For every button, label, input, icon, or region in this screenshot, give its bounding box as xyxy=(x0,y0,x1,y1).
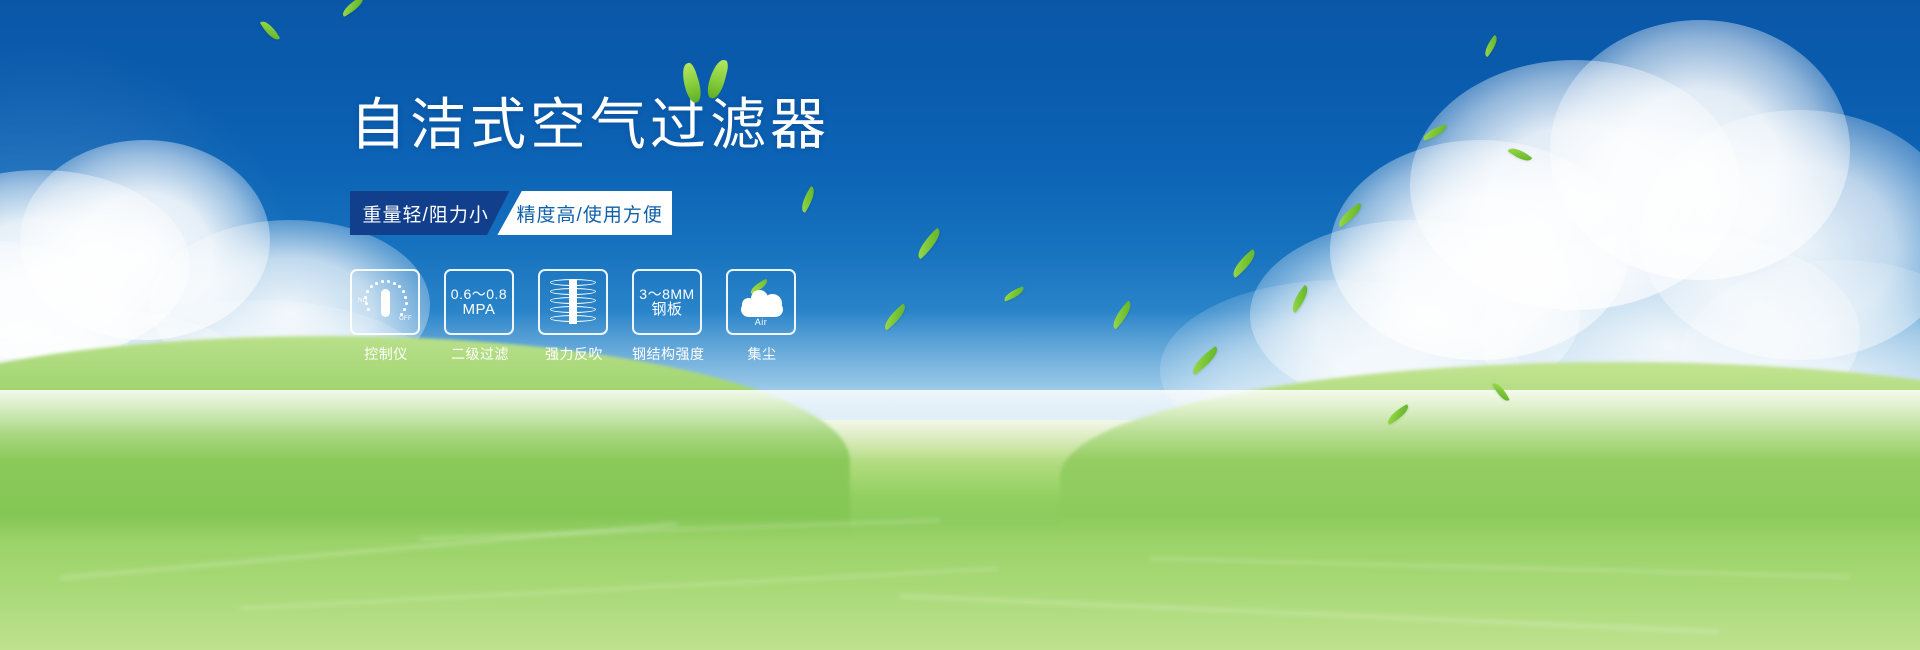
steel-icon-material: 钢板 xyxy=(651,302,682,318)
feature-list: NO OFF 控制仪 0.6～0.8 MPA 二级过滤 xyxy=(350,269,990,364)
feature-label: 钢结构强度 xyxy=(632,344,704,364)
banner-content: 自洁式空气过滤器 重量轻/阻力小 精度高/使用方便 xyxy=(350,95,990,364)
steel-icon-thickness: 3～8MM xyxy=(639,286,694,302)
pressure-icon-unit: MPA xyxy=(463,302,496,318)
title-block: 自洁式空气过滤器 xyxy=(350,95,990,167)
subtitle-tab-2[interactable]: 精度高/使用方便 xyxy=(497,191,672,235)
feature-item-dust-collection[interactable]: Air 集尘 xyxy=(726,269,798,364)
gauge-label-off: OFF xyxy=(399,316,412,322)
air-badge-text: Air xyxy=(736,317,786,327)
coil-icon xyxy=(550,278,596,326)
feature-icon-box xyxy=(538,269,608,335)
feature-item-backblow[interactable]: 强力反吹 xyxy=(538,269,610,364)
air-cloud-icon: Air xyxy=(736,280,786,324)
gauge-label-on: NO xyxy=(358,298,368,304)
title-leaf-right xyxy=(705,58,729,100)
subtitle-tabs: 重量轻/阻力小 精度高/使用方便 xyxy=(350,191,672,235)
feature-icon-box: 3～8MM 钢板 xyxy=(632,269,702,335)
feature-icon-box: Air xyxy=(726,269,796,335)
feature-icon-box: 0.6～0.8 MPA xyxy=(444,269,514,335)
feature-item-controller[interactable]: NO OFF 控制仪 xyxy=(350,269,422,364)
gauge-icon: NO OFF xyxy=(358,278,412,326)
feature-label: 二级过滤 xyxy=(444,344,516,364)
feature-label: 强力反吹 xyxy=(538,344,610,364)
page-title: 自洁式空气过滤器 xyxy=(350,95,990,155)
feature-item-steel[interactable]: 3～8MM 钢板 钢结构强度 xyxy=(632,269,704,364)
title-leaf-left xyxy=(678,62,705,105)
pressure-icon-value: 0.6～0.8 xyxy=(451,286,507,302)
grass-horizon-haze xyxy=(0,390,1920,460)
feature-label: 控制仪 xyxy=(350,344,422,364)
product-banner: 自洁式空气过滤器 重量轻/阻力小 精度高/使用方便 xyxy=(0,0,1920,650)
feature-icon-box: NO OFF xyxy=(350,269,420,335)
feature-label: 集尘 xyxy=(726,344,798,364)
subtitle-tab-1[interactable]: 重量轻/阻力小 xyxy=(350,191,509,235)
title-leaf-decoration xyxy=(680,59,740,105)
feature-item-filtration[interactable]: 0.6～0.8 MPA 二级过滤 xyxy=(444,269,516,364)
